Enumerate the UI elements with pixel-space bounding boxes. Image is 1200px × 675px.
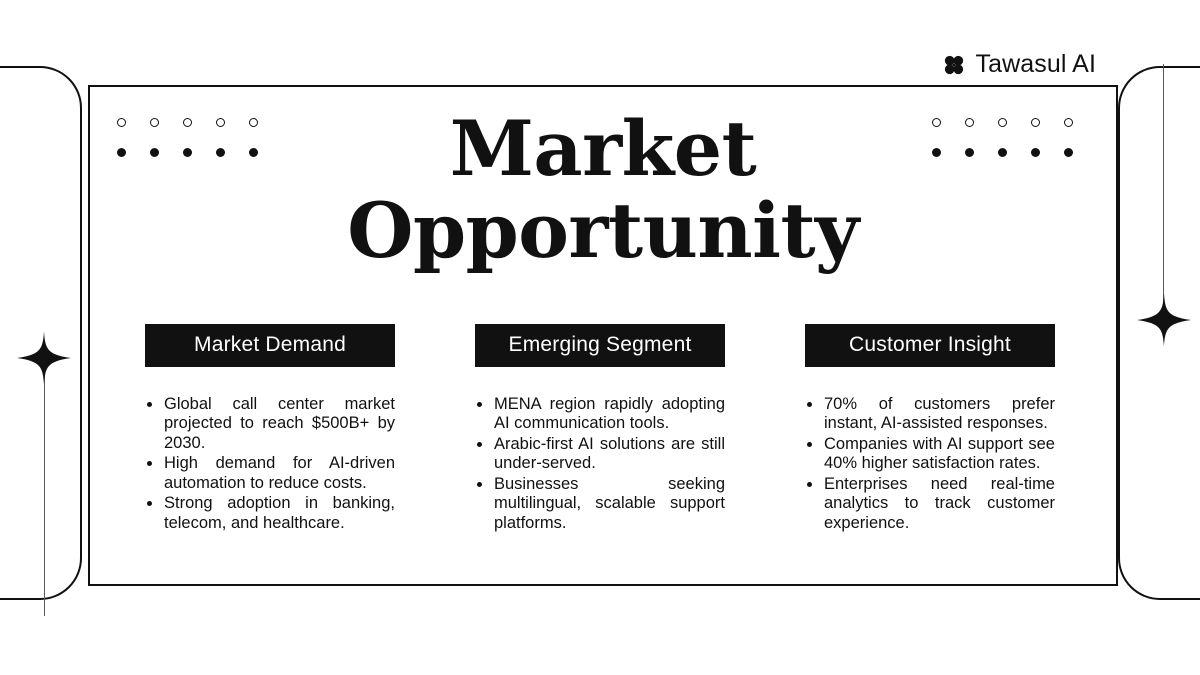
decor-hairline-right xyxy=(1163,64,1164,328)
list-item: High demand for AI-driven automation to … xyxy=(145,454,395,493)
page-title: Market Opportunity xyxy=(88,108,1118,272)
column-bullet-list: Global call center market projected to r… xyxy=(145,395,395,533)
column-heading-badge: Emerging Segment xyxy=(475,324,725,367)
list-item: Businesses seeking multilingual, scalabl… xyxy=(475,475,725,533)
page-title-line2: Opportunity xyxy=(88,190,1118,272)
column-market-demand: Market Demand Global call center market … xyxy=(145,324,395,534)
slide-canvas: Tawasul AI Market Opportunity Market Dem xyxy=(0,0,1200,675)
content-columns: Market Demand Global call center market … xyxy=(145,324,1105,534)
column-customer-insight: Customer Insight 70% of customers prefer… xyxy=(805,324,1055,534)
column-heading-badge: Customer Insight xyxy=(805,324,1055,367)
list-item: Strong adoption in banking, telecom, and… xyxy=(145,494,395,533)
column-heading-badge: Market Demand xyxy=(145,324,395,367)
sparkle-star-icon xyxy=(1136,292,1192,348)
page-title-line1: Market xyxy=(88,108,1118,190)
brand-lockup: Tawasul AI xyxy=(936,50,1100,79)
list-item: Companies with AI support see 40% higher… xyxy=(805,435,1055,474)
column-bullet-list: 70% of customers prefer instant, AI-assi… xyxy=(805,395,1055,533)
clover-icon xyxy=(942,53,966,77)
list-item: Arabic-first AI solutions are still unde… xyxy=(475,435,725,474)
list-item: Global call center market projected to r… xyxy=(145,395,395,453)
column-bullet-list: MENA region rapidly adopting AI communic… xyxy=(475,395,725,533)
decor-hairline-left xyxy=(44,348,45,616)
list-item: 70% of customers prefer instant, AI-assi… xyxy=(805,395,1055,434)
list-item: MENA region rapidly adopting AI communic… xyxy=(475,395,725,434)
column-emerging-segment: Emerging Segment MENA region rapidly ado… xyxy=(475,324,725,534)
list-item: Enterprises need real-time analytics to … xyxy=(805,475,1055,533)
brand-name: Tawasul AI xyxy=(975,50,1096,79)
sparkle-star-icon xyxy=(16,330,72,386)
